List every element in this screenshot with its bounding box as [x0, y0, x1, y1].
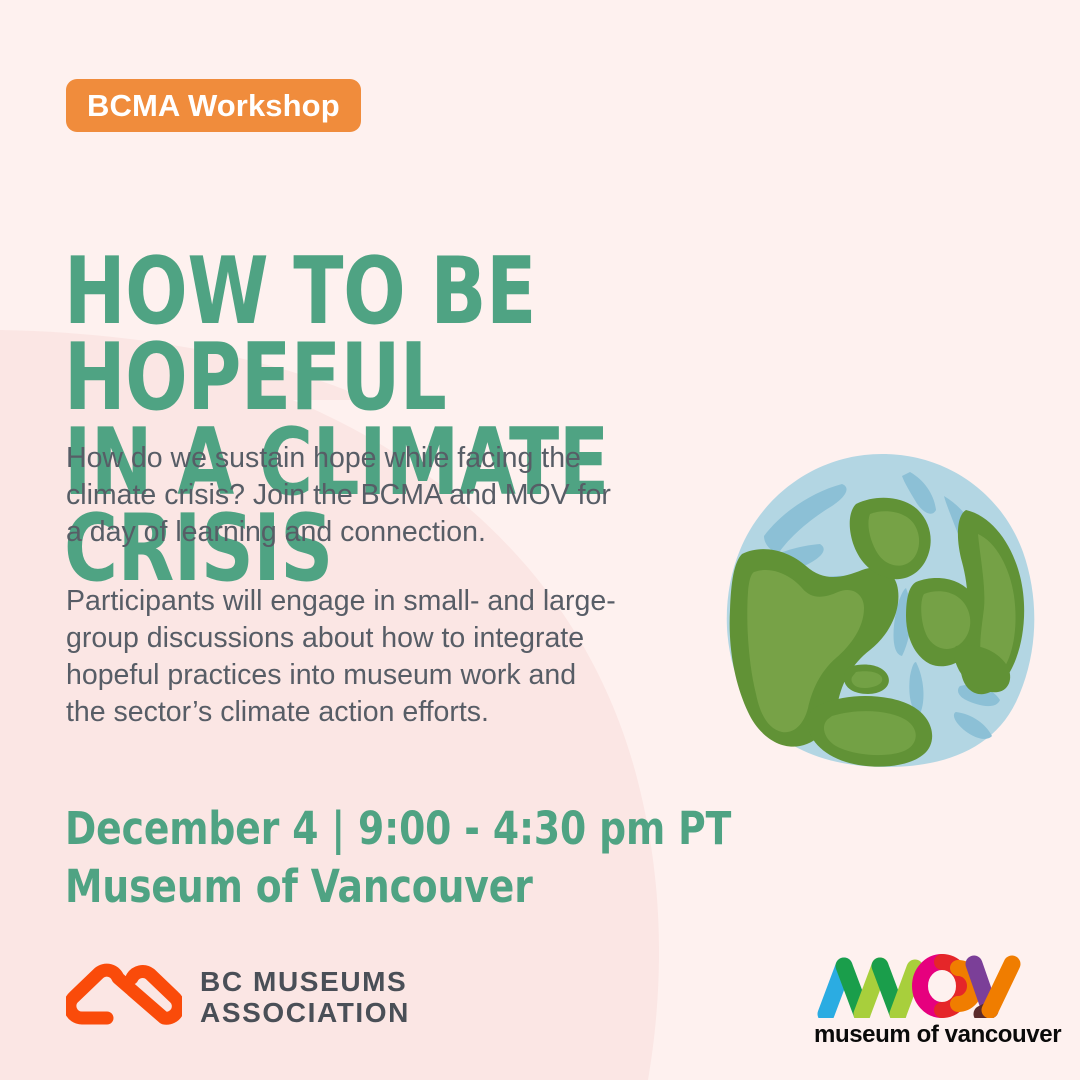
description-block: How do we sustain hope while facing the …: [66, 440, 676, 730]
workshop-badge: BCMA Workshop: [66, 79, 361, 132]
mov-lettermark-icon: [814, 952, 1026, 1018]
description-paragraph-1: How do we sustain hope while facing the …: [66, 440, 676, 550]
event-details: December 4 | 9:00 - 4:30 pm PT Museum of…: [65, 800, 731, 915]
mov-wordmark: museum of vancouver: [814, 1021, 1026, 1049]
mov-logo: museum of vancouver: [814, 952, 1026, 1049]
bcma-infinity-icon: [66, 960, 182, 1034]
poster-canvas: BCMA Workshop HOW TO BE HOPEFUL IN A CLI…: [0, 0, 1080, 1080]
bcma-wordmark-line-1: BC MUSEUMS: [200, 966, 410, 997]
event-datetime: December 4 | 9:00 - 4:30 pm PT: [65, 800, 731, 858]
bcma-wordmark: BC MUSEUMS ASSOCIATION: [200, 966, 410, 1029]
bcma-wordmark-line-2: ASSOCIATION: [200, 997, 410, 1028]
description-paragraph-2: Participants will engage in small- and l…: [66, 583, 676, 730]
bcma-logo: BC MUSEUMS ASSOCIATION: [66, 960, 410, 1034]
event-venue: Museum of Vancouver: [65, 858, 731, 916]
